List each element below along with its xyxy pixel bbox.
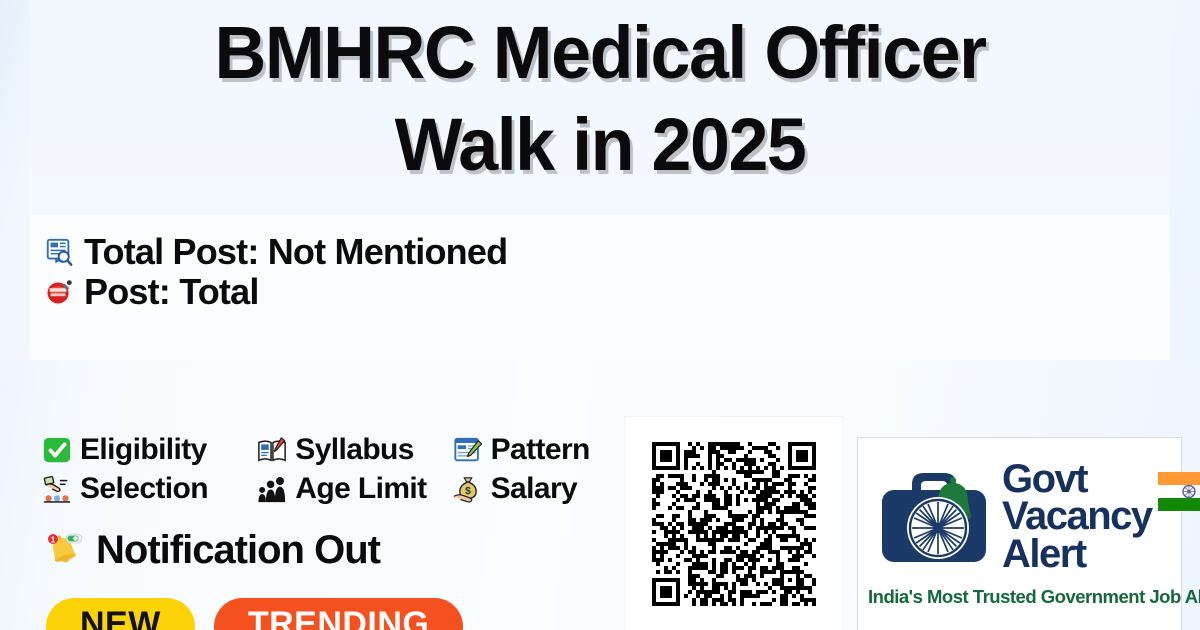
status-badge-trending[interactable]: TRENDING bbox=[214, 598, 464, 630]
feature-syllabus: Syllabus bbox=[257, 433, 452, 467]
notification-label: Notification Out bbox=[96, 528, 380, 573]
poster-canvas: BMHRC Medical Officer Walk in 2025 T bbox=[0, 0, 1200, 630]
qr-code-card[interactable] bbox=[625, 417, 843, 630]
brand-logo-card: Govt Vacancy Alert bbox=[857, 437, 1182, 630]
selection-hand-icon bbox=[42, 474, 72, 504]
info-row-text: Total Post: Not Mentioned bbox=[84, 231, 507, 273]
info-row-text: Post: Total bbox=[84, 271, 259, 313]
feature-selection: Selection bbox=[42, 472, 257, 506]
bell-notification-icon: 1 bbox=[44, 531, 84, 571]
brand-wordmark: Govt Vacancy Alert bbox=[1002, 459, 1152, 573]
feature-grid: Eligibility Syllabus bbox=[42, 430, 642, 508]
feature-label: Eligibility bbox=[80, 433, 207, 467]
brand-logo-main: Govt Vacancy Alert bbox=[868, 450, 1171, 582]
feature-label: Pattern bbox=[491, 433, 590, 467]
feature-age-limit: Age Limit bbox=[257, 472, 452, 506]
feature-pattern: Pattern bbox=[453, 433, 642, 467]
feature-label: Age Limit bbox=[295, 472, 426, 506]
info-row-total-post: Total Post: Not Mentioned bbox=[44, 232, 507, 272]
brand-tagline: India's Most Trusted Government Job Aler… bbox=[868, 586, 1171, 608]
feature-row-1: Eligibility Syllabus bbox=[42, 430, 642, 469]
title-line-2: Walk in 2025 bbox=[18, 110, 1182, 180]
briefcase-chakra-bell-icon bbox=[872, 454, 996, 578]
people-group-icon bbox=[257, 474, 287, 504]
document-search-icon bbox=[44, 237, 74, 267]
feature-label: Selection bbox=[80, 472, 208, 506]
page-title: BMHRC Medical Officer Walk in 2025 bbox=[18, 18, 1182, 181]
svg-text:$: $ bbox=[465, 486, 471, 497]
notification-line: 1 Notification Out bbox=[44, 528, 380, 573]
feature-eligibility: Eligibility bbox=[42, 433, 257, 467]
badge-row: NEW TRENDING bbox=[46, 598, 463, 630]
qr-code[interactable] bbox=[652, 442, 816, 606]
title-line-1: BMHRC Medical Officer bbox=[214, 11, 985, 94]
svg-text:1: 1 bbox=[51, 535, 56, 544]
green-check-icon bbox=[42, 435, 72, 465]
brand-word-1: Govt bbox=[1002, 461, 1152, 498]
hero-section: BMHRC Medical Officer Walk in 2025 bbox=[0, 18, 1200, 181]
exam-paper-icon bbox=[453, 435, 483, 465]
money-bag-hand-icon: $ bbox=[453, 474, 483, 504]
india-flag-icon bbox=[1158, 470, 1200, 519]
info-block: Total Post: Not Mentioned Post: Total bbox=[44, 232, 507, 312]
feature-salary: $ Salary bbox=[453, 472, 642, 506]
info-row-post: Post: Total bbox=[44, 272, 507, 312]
job-alert-badge-icon bbox=[44, 277, 74, 307]
brand-word-2: Vacancy bbox=[1002, 498, 1152, 535]
feature-label: Syllabus bbox=[295, 433, 414, 467]
brand-word-3: Alert bbox=[1002, 536, 1152, 573]
book-pencil-icon bbox=[257, 435, 287, 465]
feature-label: Salary bbox=[491, 472, 577, 506]
feature-row-2: Selection Age Limit bbox=[42, 469, 642, 508]
status-badge-new[interactable]: NEW bbox=[46, 598, 195, 630]
